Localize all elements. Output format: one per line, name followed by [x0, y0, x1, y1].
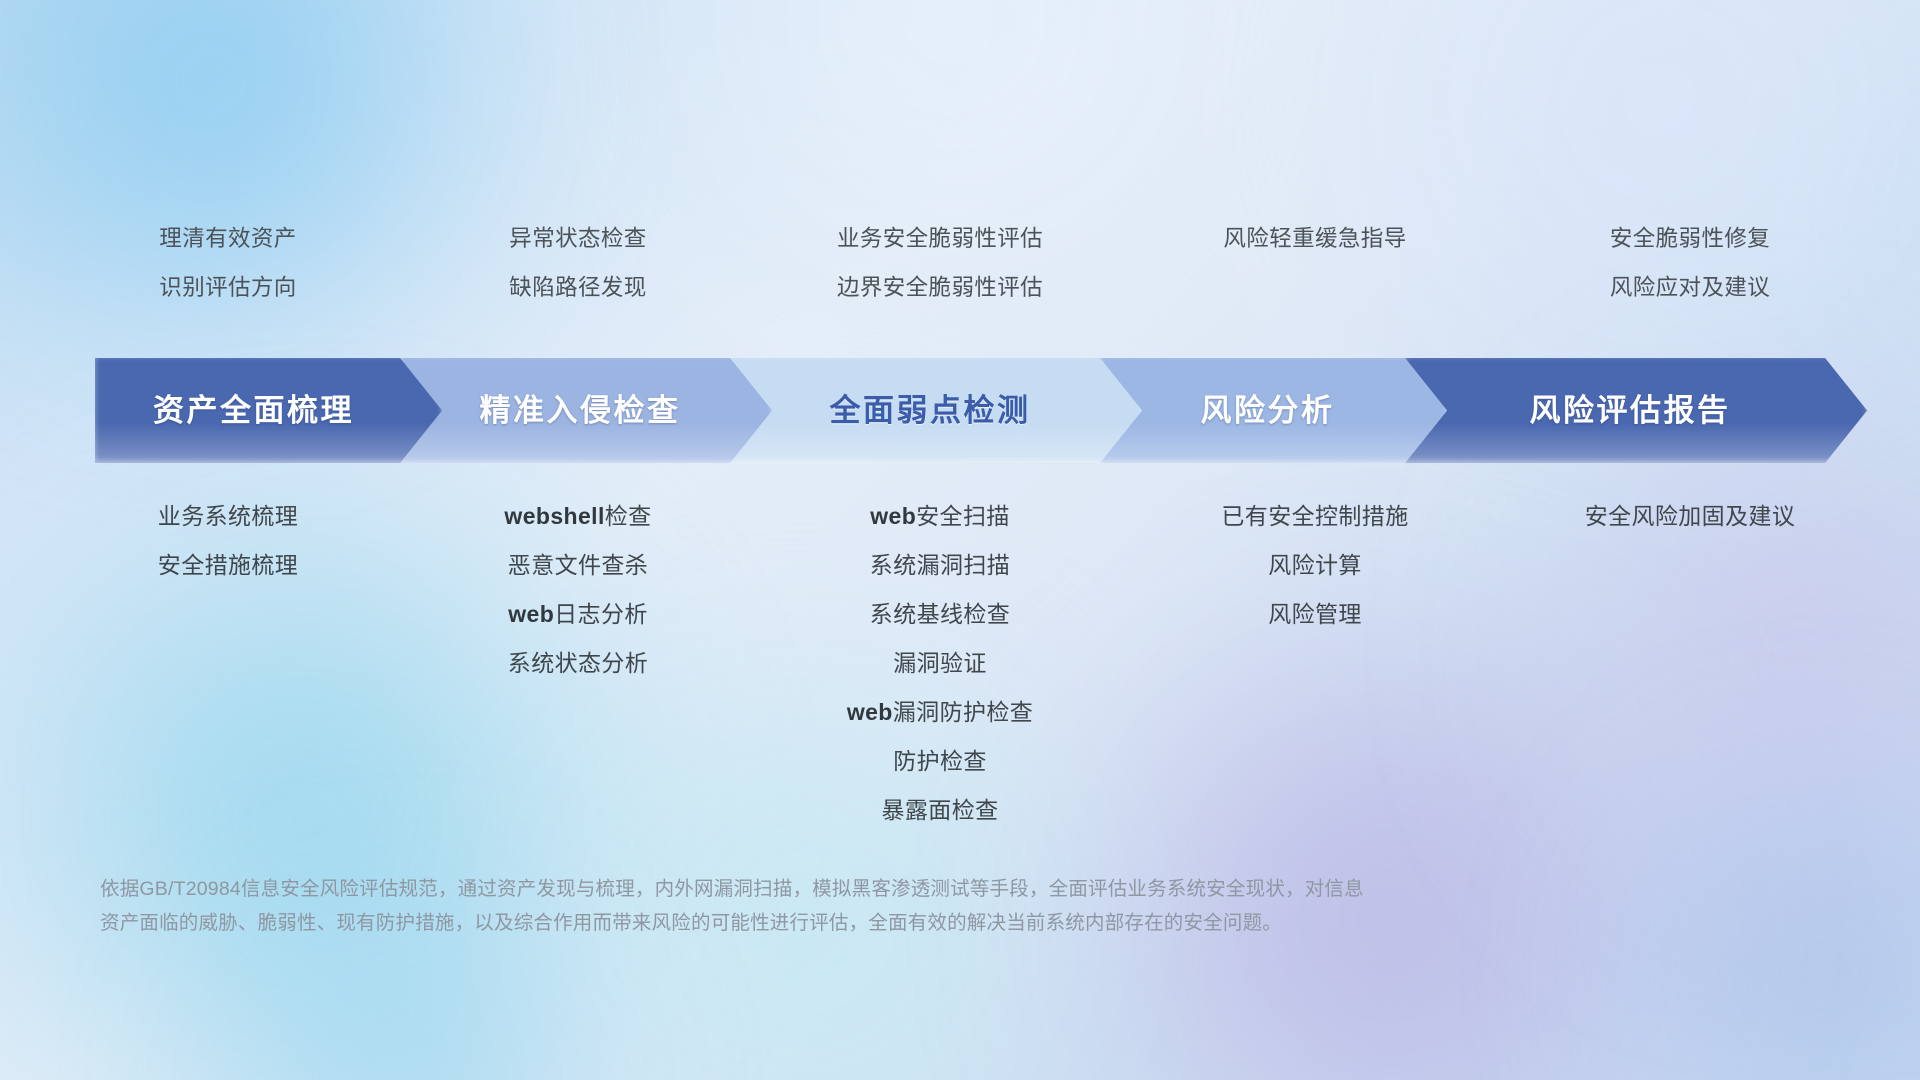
- top-note: 边界安全脆弱性评估: [837, 277, 1043, 300]
- chevron-label-stage-4: 风险分析: [1100, 395, 1447, 426]
- stage-item-prefix: webshell: [504, 503, 604, 529]
- process-chevron-band: 资产全面梳理精准入侵检查全面弱点检测风险分析风险评估报告: [0, 358, 1920, 463]
- footer-line-2: 资产面临的威胁、脆弱性、现有防护措施，以及综合作用而带来风险的可能性进行评估，全…: [100, 906, 1600, 940]
- stage-item-prefix: web: [847, 699, 893, 725]
- footer-line-1: 依据GB/T20984信息安全风险评估规范，通过资产发现与梳理，内外网漏洞扫描，…: [100, 872, 1600, 906]
- stage-item: 安全风险加固及建议: [1585, 505, 1796, 528]
- chevron-label-stage-2: 精准入侵检查: [400, 395, 772, 426]
- stage-item-prefix: web: [870, 503, 916, 529]
- stage-item: 已有安全控制措施: [1221, 505, 1408, 528]
- top-note: 识别评估方向: [159, 277, 296, 300]
- top-note: 异常状态检查: [509, 228, 646, 251]
- top-note: 安全脆弱性修复: [1610, 228, 1770, 251]
- stage-item: web日志分析: [508, 603, 648, 626]
- stage-item: 暴露面检查: [882, 799, 999, 822]
- top-note: 风险轻重缓急指导: [1223, 228, 1406, 251]
- chevron-stage-5[interactable]: 风险评估报告: [1405, 358, 1867, 463]
- stage-item: 恶意文件查杀: [508, 554, 648, 577]
- chevron-stage-1[interactable]: 资产全面梳理: [95, 358, 442, 463]
- stage-item: 漏洞验证: [893, 652, 987, 675]
- stage-item: webshell检查: [504, 505, 651, 528]
- items-stage-5: 安全风险加固及建议: [1390, 505, 1920, 528]
- top-note: 业务安全脆弱性评估: [837, 228, 1043, 251]
- chevron-label-stage-5: 风险评估报告: [1405, 395, 1867, 426]
- top-note: 缺陷路径发现: [509, 277, 646, 300]
- stage-item: 系统状态分析: [508, 652, 648, 675]
- chevron-stage-3[interactable]: 全面弱点检测: [730, 358, 1142, 463]
- top-notes-stage-5: 安全脆弱性修复风险应对及建议: [1390, 228, 1920, 299]
- stage-item: 系统基线检查: [870, 603, 1010, 626]
- stage-item: 风险计算: [1268, 554, 1362, 577]
- footer-description: 依据GB/T20984信息安全风险评估规范，通过资产发现与梳理，内外网漏洞扫描，…: [100, 872, 1600, 940]
- stage-item: 系统漏洞扫描: [870, 554, 1010, 577]
- chevron-stage-2[interactable]: 精准入侵检查: [400, 358, 772, 463]
- stage-item: web漏洞防护检查: [847, 701, 1033, 724]
- chevron-label-stage-3: 全面弱点检测: [730, 395, 1142, 426]
- chevron-stage-4[interactable]: 风险分析: [1100, 358, 1447, 463]
- stage-item: web安全扫描: [870, 505, 1010, 528]
- stage-item: 风险管理: [1268, 603, 1362, 626]
- top-note: 风险应对及建议: [1610, 277, 1770, 300]
- top-note: 理清有效资产: [159, 228, 296, 251]
- chevron-label-stage-1: 资产全面梳理: [95, 395, 442, 426]
- stage-item-prefix: web: [508, 601, 554, 627]
- stage-item: 防护检查: [893, 750, 987, 773]
